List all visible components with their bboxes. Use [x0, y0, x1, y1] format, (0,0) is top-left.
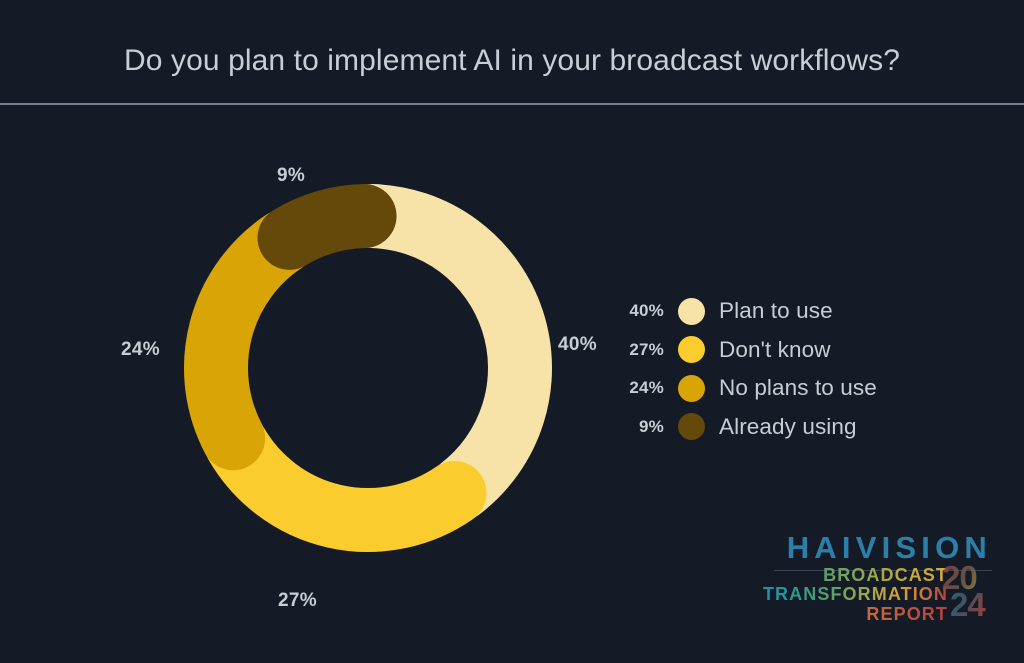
title-bar: Do you plan to implement AI in your broa… [0, 0, 1024, 104]
chart-legend: 40% Plan to use 27% Don't know 24% No pl… [612, 292, 932, 446]
legend-item-already-using: 9% Already using [612, 408, 932, 447]
legend-label: Already using [719, 414, 857, 440]
legend-label: No plans to use [719, 375, 877, 401]
legend-swatch-icon [678, 336, 705, 363]
page-title: Do you plan to implement AI in your broa… [0, 44, 1024, 78]
year-mark-bottom: 24 [950, 591, 1000, 618]
title-divider [0, 103, 1024, 105]
donut-chart-svg [176, 176, 560, 560]
legend-item-dont-know: 27% Don't know [612, 331, 932, 370]
legend-label: Plan to use [719, 298, 833, 324]
donut-segment [236, 444, 454, 520]
legend-label: Don't know [719, 337, 831, 363]
report-lockup: BROADCAST TRANSFORMATION REPORT [736, 566, 948, 624]
legend-percent: 40% [612, 301, 664, 321]
donut-callout-plan-to-use: 40% [558, 334, 597, 356]
donut-segment-group [216, 216, 520, 520]
donut-segment [216, 242, 284, 439]
donut-callout-dont-know: 27% [278, 590, 317, 612]
legend-swatch-icon [678, 413, 705, 440]
report-line-broadcast: BROADCAST [736, 566, 948, 585]
donut-callout-already-using: 9% [277, 165, 305, 187]
legend-percent: 24% [612, 378, 664, 398]
donut-chart [176, 176, 560, 560]
legend-percent: 27% [612, 340, 664, 360]
donut-callout-no-plans-to-use: 24% [121, 339, 160, 361]
legend-item-plan-to-use: 40% Plan to use [612, 292, 932, 331]
report-line-transformation: TRANSFORMATION [736, 585, 948, 604]
donut-segment [289, 216, 364, 238]
legend-swatch-icon [678, 298, 705, 325]
legend-swatch-icon [678, 375, 705, 402]
report-line-report: REPORT [736, 605, 948, 624]
slide-canvas: Do you plan to implement AI in your broa… [0, 0, 1024, 663]
logo-block: HAIVISION BROADCAST TRANSFORMATION REPOR… [744, 524, 1006, 642]
year-mark: 20 24 [942, 564, 1000, 626]
donut-segment [371, 216, 520, 489]
legend-percent: 9% [612, 417, 664, 437]
legend-item-no-plans-to-use: 24% No plans to use [612, 369, 932, 408]
